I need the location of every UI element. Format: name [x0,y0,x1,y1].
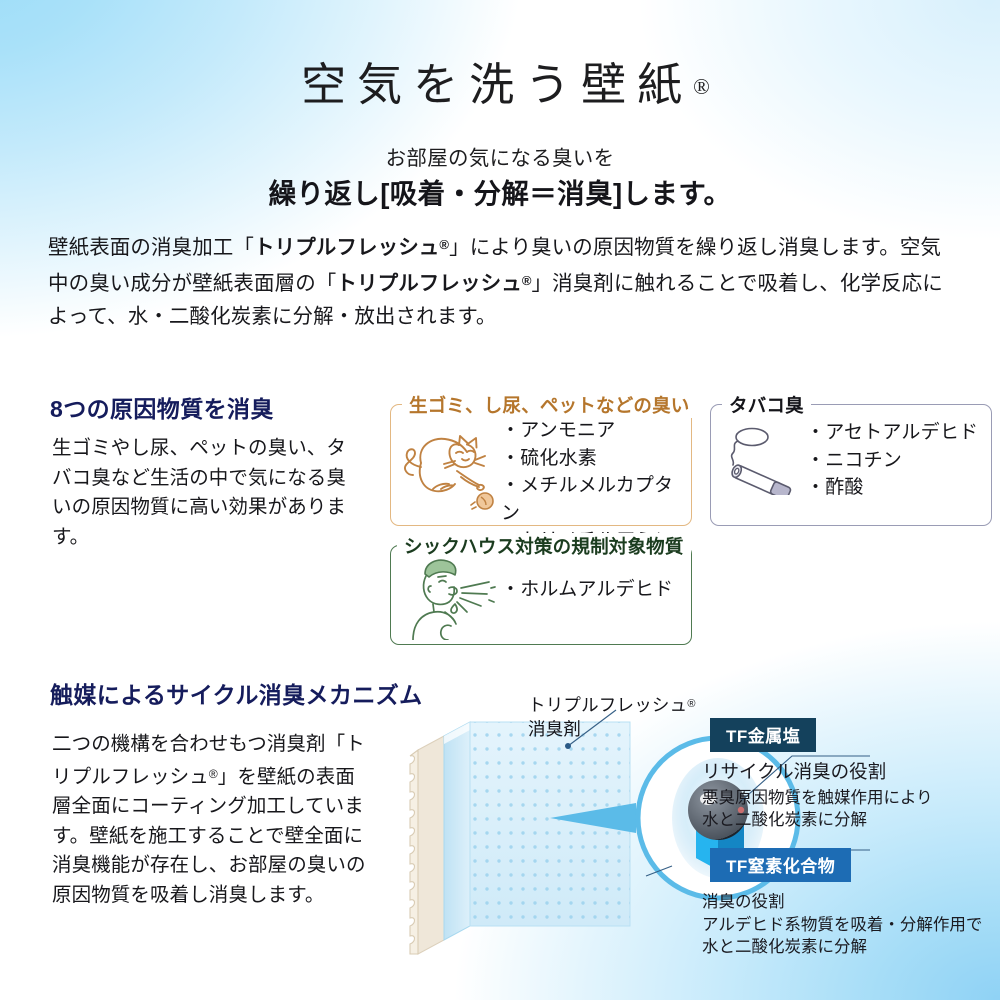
mechanism-diagram: トリプルフレッシュ® 消臭剤 TF金属塩 リサイクル消臭の役割 悪臭原因物質を触… [400,690,1000,980]
odor-box-tobacco: タバコ臭 ・アセトアルデヒド ・ニコチン ・酢酸 [710,404,992,526]
diagram-label-agent: トリプルフレッシュ® 消臭剤 [528,692,696,741]
subtitle-line-2: 繰り返し[吸着・分解＝消臭]します。 [0,171,1000,211]
section-body-mechanism: 二つの機構を合わせもつ消臭剤「トリプルフレッシュ®」を壁紙の表面層全面にコーティ… [52,730,372,910]
list-item: ・メチルメルカプタン [501,472,691,527]
registered-mark-icon: ® [439,237,449,252]
cat-playing-icon [397,423,501,516]
agent-label-line-1: トリプルフレッシュ [528,695,687,715]
diagram-text-metal-salt: リサイクル消臭の役割 悪臭原因物質を触媒作用により 水と二酸化炭素に分解 [702,760,933,831]
registered-mark-icon: ® [687,698,695,710]
list-item: ・ニコチン [806,447,978,475]
diagram-text-nitrogen-compound: 消臭の役割 アルデヒド系物質を吸着・分解作用で 水と二酸化炭素に分解 [702,890,982,958]
registered-mark-icon: ® [209,767,218,781]
section-body-odor: 生ゴミやし尿、ペットの臭い、タバコ臭など生活の中で気になる臭いの原因物質に高い効… [52,434,352,552]
nitrogen-desc-line-1: アルデヒド系物質を吸着・分解作用で [702,914,982,936]
badge-tf-nitrogen-compound: TF窒素化合物 [710,848,851,882]
nitrogen-desc-line-2: 水と二酸化炭素に分解 [702,936,982,958]
page-title-text: 空気を洗う壁紙 [301,60,693,110]
metal-desc-line-1: 悪臭原因物質を触媒作用により [702,787,933,809]
page-root: 空気を洗う壁紙® お部屋の気になる臭いを 繰り返し[吸着・分解＝消臭]します。 … [0,0,1000,1000]
odor-box-waste: 生ゴミ、し尿、ペットなどの臭い [390,404,692,526]
section-heading-mechanism: 触媒によるサイクル消臭メカニズム [50,676,423,710]
page-title: 空気を洗う壁紙® [0,48,1000,113]
list-item: ・酢酸 [806,474,978,502]
metal-desc-line-2: 水と二酸化炭素に分解 [702,809,933,831]
list-item: ・硫化水素 [501,445,691,473]
list-item: ・アンモニア [501,417,691,445]
agent-label-line-2: 消臭剤 [528,719,581,739]
metal-role: リサイクル消臭の役割 [702,760,933,784]
lead-segment-1: 壁紙表面の消臭加工「 [48,236,254,259]
section-heading-odor: 8つの原因物質を消臭 [50,390,274,424]
odor-box-tobacco-items: ・アセトアルデヒド ・ニコチン ・酢酸 [806,419,978,502]
nitrogen-role: 消臭の役割 [702,890,982,914]
cigarette-icon [721,425,807,500]
list-item: ・ホルムアルデヒド [501,576,673,604]
odor-box-sickhouse-items: ・ホルムアルデヒド [501,576,673,604]
registered-mark-icon: ® [693,74,710,99]
odor-box-waste-legend: 生ゴミ、し尿、ペットなどの臭い [402,392,697,418]
odor-box-tobacco-legend: タバコ臭 [722,392,811,418]
subtitle-line-1: お部屋の気になる臭いを [0,141,1000,171]
odor-box-sickhouse: シックハウス対策の規制対象物質 [390,545,692,645]
list-item: ・アセトアルデヒド [806,419,978,447]
lead-brand-1: トリプルフレッシュ [254,236,439,259]
badge-tf-metal-salt: TF金属塩 [710,718,816,752]
registered-mark-icon: ® [522,273,532,288]
lead-paragraph: 壁紙表面の消臭加工「トリプルフレッシュ®」により臭いの原因物質を繰り返し消臭しま… [48,228,953,333]
coughing-person-icon [405,552,497,645]
mechanism-body-segment-1: 二つの機構を合わせもつ消臭剤「 [52,733,345,755]
lead-brand-2: トリプルフレッシュ [336,272,521,295]
